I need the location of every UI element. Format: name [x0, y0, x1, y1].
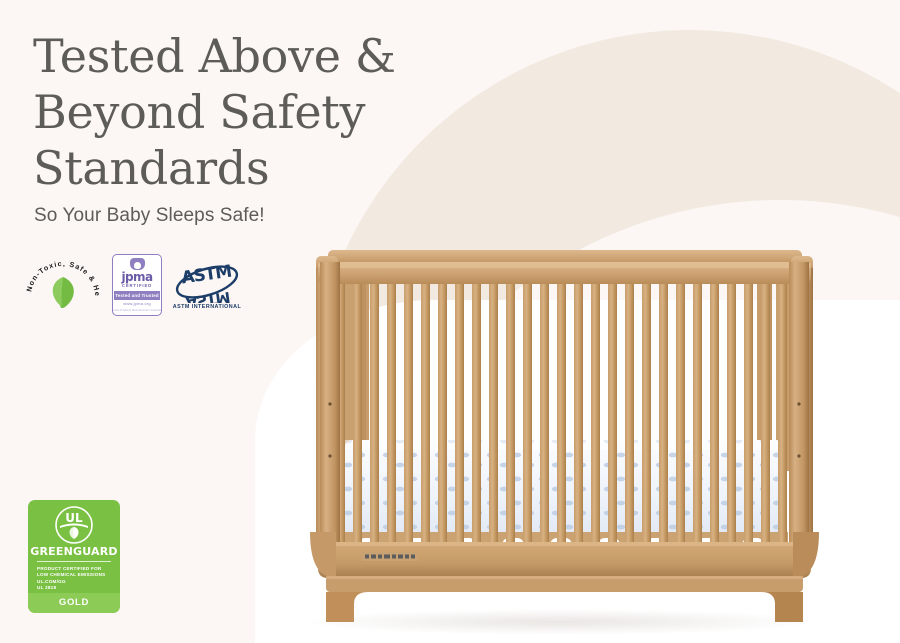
- greenguard-fine-line-4: UL 2818: [37, 585, 111, 591]
- headline-block: Tested Above & Beyond Safety Standards: [33, 28, 433, 196]
- page-title: Tested Above & Beyond Safety Standards: [33, 28, 433, 196]
- greenguard-title: GREENGUARD: [30, 545, 117, 558]
- leaf-icon: [53, 277, 74, 308]
- badge-greenguard: UL GREENGUARD PRODUCT CERTIFIED FOR LOW …: [28, 500, 120, 613]
- greenguard-fine-print: PRODUCT CERTIFIED FOR LOW CHEMICAL EMISS…: [37, 566, 111, 592]
- greenguard-fine-line-2: LOW CHEMICAL EMISSIONS: [37, 572, 111, 578]
- greenguard-divider: [37, 561, 111, 562]
- badge-non-toxic: Non-Toxic, Safe & Healthy: [22, 252, 104, 318]
- astm-orbit-icon: ASTM ASTM: [174, 261, 240, 303]
- ul-text: UL: [65, 511, 83, 525]
- jpma-certified-text: CERTIFIED: [122, 283, 152, 289]
- hero-banner: Tested Above & Beyond Safety Standards S…: [0, 0, 900, 643]
- jpma-url: www.jpma.org: [123, 300, 151, 308]
- certification-badge-row: Non-Toxic, Safe & Healthy jpma CERTIFIED…: [22, 252, 244, 318]
- crib-bottom-skirt: [318, 542, 811, 578]
- headline-line-1: Tested Above &: [33, 29, 396, 83]
- ul-leaf-icon: UL: [55, 506, 93, 544]
- product-image-crib: [302, 232, 827, 624]
- astm-label: ASTM INTERNATIONAL: [173, 304, 242, 310]
- badge-astm: ASTM ASTM ASTM INTERNATIONAL: [170, 256, 244, 314]
- crib-front-top-rail: [318, 262, 811, 284]
- subheadline: So Your Baby Sleeps Safe!: [34, 205, 265, 227]
- brand-logo-plate: [362, 552, 418, 561]
- jpma-footnote: Juvenile Products Manufacturers Associat…: [112, 308, 162, 313]
- jpma-heart-icon: [130, 258, 145, 270]
- headline-line-3: Standards: [33, 141, 269, 195]
- jpma-tagline: Tested and Trusted: [114, 291, 160, 300]
- crib-base-and-legs: [326, 576, 803, 622]
- greenguard-tier: GOLD: [28, 593, 120, 613]
- svg-text:ASTM: ASTM: [185, 287, 231, 302]
- jpma-wordmark: jpma: [122, 271, 153, 283]
- headline-line-2: Beyond Safety: [33, 85, 365, 139]
- badge-jpma: jpma CERTIFIED Tested and Trusted www.jp…: [112, 254, 162, 316]
- svg-text:ASTM: ASTM: [180, 261, 232, 288]
